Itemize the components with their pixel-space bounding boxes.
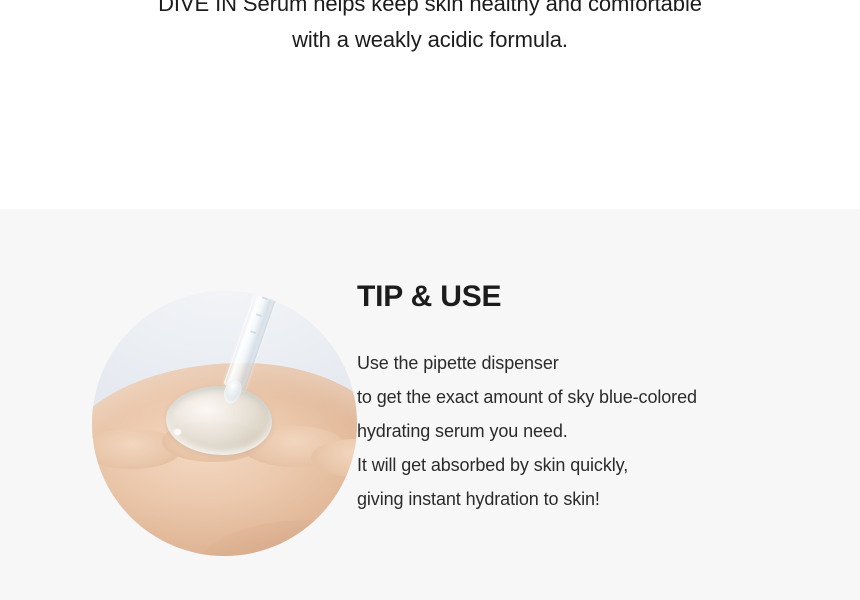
tip-body-line-4: It will get absorbed by skin quickly, <box>357 448 827 482</box>
tip-body-line-5: giving instant hydration to skin! <box>357 482 827 516</box>
tip-heading: TIP & USE <box>357 279 827 315</box>
intro-line-1: DIVE IN Serum helps keep skin healthy an… <box>0 0 860 22</box>
intro-copy: DIVE IN Serum helps keep skin healthy an… <box>0 0 860 58</box>
intro-line-2: with a weakly acidic formula. <box>0 22 860 58</box>
droplet-highlight <box>174 429 181 435</box>
tip-and-use-section: TIP & USE Use the pipette dispenser to g… <box>0 209 860 600</box>
tip-text-block: TIP & USE Use the pipette dispenser to g… <box>357 279 827 516</box>
tip-body-line-3: hydrating serum you need. <box>357 414 827 448</box>
tip-body-line-1: Use the pipette dispenser <box>357 346 827 380</box>
product-detail-page: DIVE IN Serum helps keep skin healthy an… <box>0 0 860 600</box>
serum-application-photo <box>92 291 357 556</box>
intro-section: DIVE IN Serum helps keep skin healthy an… <box>0 0 860 209</box>
skin-shading <box>196 520 357 556</box>
tip-body-line-2: to get the exact amount of sky blue-colo… <box>357 380 827 414</box>
tip-body: Use the pipette dispenser to get the exa… <box>357 346 827 516</box>
